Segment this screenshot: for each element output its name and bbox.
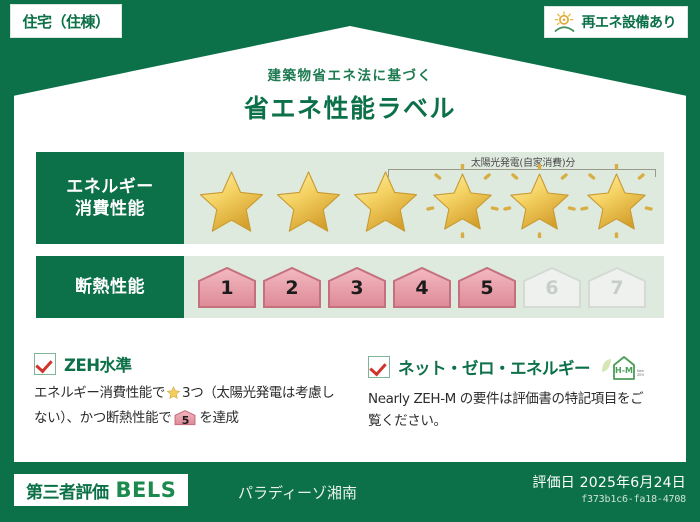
sun-icon <box>553 11 577 33</box>
star-rating <box>184 164 654 238</box>
checkbox-zeh-icon <box>34 353 56 375</box>
star-1 <box>194 164 269 238</box>
row-insulation-body: 1 2 3 4 <box>184 256 664 318</box>
insulation-grade-4: 4 <box>391 265 453 309</box>
evaluation-date: 評価日 2025年6月24日 <box>532 472 686 492</box>
row-energy-label: エネルギー 消費性能 <box>36 152 184 244</box>
svg-text:ZEH-M: ZEH-M <box>637 373 644 377</box>
criteria-zeh: ZEH水準 エネルギー消費性能で3つ（太陽光発電は考慮しない）、かつ断熱性能で5… <box>34 352 352 433</box>
renewable-equipment-label: 再エネ設備あり <box>582 12 677 32</box>
insulation-grade-6: 6 <box>521 265 583 309</box>
title-subtitle: 建築物省エネ法に基づく <box>0 64 700 84</box>
insulation-grade-1-value: 1 <box>196 277 258 299</box>
star-6-solar <box>579 164 654 238</box>
building-type-label: 住宅（住棟） <box>22 11 109 32</box>
performance-rows: エネルギー 消費性能 太陽光発電(自家消費)分 <box>36 152 664 318</box>
row-energy-body: 太陽光発電(自家消費)分 <box>184 152 664 244</box>
criteria-section: ZEH水準 エネルギー消費性能で3つ（太陽光発電は考慮しない）、かつ断熱性能で5… <box>34 352 670 433</box>
evaluation-id: f373b1c6-fa18-4708 <box>581 494 686 505</box>
star-5-solar <box>502 164 577 238</box>
criteria-zeh-header: ZEH水準 <box>34 352 338 376</box>
insulation-grade-7: 7 <box>586 265 648 309</box>
row-energy-label-line2: 消費性能 <box>75 198 145 220</box>
criteria-zeh-description: エネルギー消費性能で3つ（太陽光発電は考慮しない）、かつ断熱性能で5を達成 <box>34 383 338 430</box>
star-4-solar <box>425 164 500 238</box>
insulation-grade-5: 5 <box>456 265 518 309</box>
insulation-grade-4-value: 4 <box>391 277 453 299</box>
zeh-m-house-icon: H-M Nearly ZEH-M <box>600 352 644 382</box>
criteria-nzeb-title: ネット・ゼロ・エネルギー <box>398 355 590 379</box>
checkbox-nzeb-icon <box>368 356 390 378</box>
bels-jp-label: 第三者評価 <box>26 478 109 503</box>
bels-badge: 第三者評価 BELS <box>14 474 188 506</box>
insulation-grade-7-value: 7 <box>586 277 648 299</box>
insulation-grade-3: 3 <box>326 265 388 309</box>
insulation-grade-5-value: 5 <box>456 277 518 299</box>
row-energy-label-line1: エネルギー <box>66 176 154 198</box>
criteria-nzeb-header: ネット・ゼロ・エネルギー H-M Nearly ZEH-M <box>368 352 656 382</box>
insulation-grade-3-value: 3 <box>326 277 388 299</box>
insulation-grade-6-value: 6 <box>521 277 583 299</box>
criteria-zeh-title: ZEH水準 <box>64 352 132 376</box>
insulation-grade-inline-value: 5 <box>174 412 196 430</box>
building-name: パラディーゾ湘南 <box>238 482 357 503</box>
row-insulation-label-line1: 断熱性能 <box>75 276 145 298</box>
renewable-equipment-badge: 再エネ設備あり <box>544 6 689 38</box>
page-title: 建築物省エネ法に基づく 省エネ性能ラベル <box>0 64 700 125</box>
svg-text:H-M: H-M <box>615 366 633 375</box>
footer: 第三者評価 BELS パラディーゾ湘南 評価日 2025年6月24日 f373b… <box>0 464 700 522</box>
insulation-grade-2-value: 2 <box>261 277 323 299</box>
criteria-nzeb: ネット・ゼロ・エネルギー H-M Nearly ZEH-M Nearly ZEH… <box>352 352 670 433</box>
row-insulation-label: 断熱性能 <box>36 256 184 318</box>
insulation-grade-1: 1 <box>196 265 258 309</box>
star-icon <box>166 385 181 408</box>
title-main: 省エネ性能ラベル <box>0 89 700 125</box>
criteria-nzeb-description: Nearly ZEH-M の要件は評価書の特記項目をご覧ください。 <box>368 389 656 433</box>
insulation-grade-scale: 1 2 3 4 <box>184 265 648 309</box>
insulation-grade-inline-badge: 5 <box>174 409 196 426</box>
row-energy-performance: エネルギー 消費性能 太陽光発電(自家消費)分 <box>36 152 664 244</box>
criteria-zeh-desc-part1: エネルギー消費性能で <box>34 385 165 401</box>
star-2 <box>271 164 346 238</box>
building-type-badge: 住宅（住棟） <box>10 4 122 38</box>
row-insulation-performance: 断熱性能 1 2 <box>36 256 664 318</box>
insulation-grade-2: 2 <box>261 265 323 309</box>
criteria-zeh-desc-part3: を達成 <box>199 410 238 426</box>
star-3 <box>348 164 423 238</box>
bels-en-label: BELS <box>116 478 177 502</box>
